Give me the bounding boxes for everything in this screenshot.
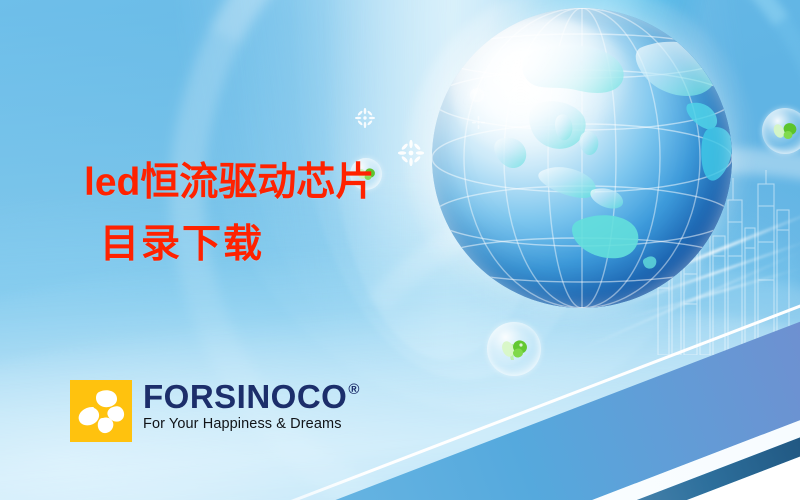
starburst-large-icon: [398, 140, 424, 166]
starburst-faint-icon: [472, 116, 485, 129]
four-petal-pinwheel-icon: [70, 380, 132, 442]
headline-line-1: led恒流驱动芯片: [84, 160, 374, 206]
bubble-sprout-edge: [762, 108, 800, 154]
headline-cjk-text: 恒流驱动芯片: [140, 161, 374, 204]
logo-tagline: For Your Happiness & Dreams: [143, 416, 360, 432]
logo-wordmark: FORSINOCO®: [143, 380, 360, 414]
bubble-glass: [470, 88, 484, 102]
company-logo[interactable]: FORSINOCO® For Your Happiness & Dreams: [70, 380, 360, 442]
bubble-tiny: [470, 88, 484, 102]
sprout-icon: [762, 108, 800, 154]
logo-wordmark-text: FORSINOCO: [143, 380, 347, 414]
logo-text-block: FORSINOCO® For Your Happiness & Dreams: [143, 380, 360, 432]
headline-block: led恒流驱动芯片 目录下载: [84, 160, 374, 268]
headline-latin-text: led: [84, 161, 140, 204]
banner-canvas: led恒流驱动芯片 目录下载 FORSINOCO® For Your Happi…: [0, 0, 800, 500]
starburst-small-icon: [355, 108, 375, 128]
registered-mark: ®: [348, 382, 360, 397]
headline-line-2: 目录下载: [100, 222, 374, 268]
